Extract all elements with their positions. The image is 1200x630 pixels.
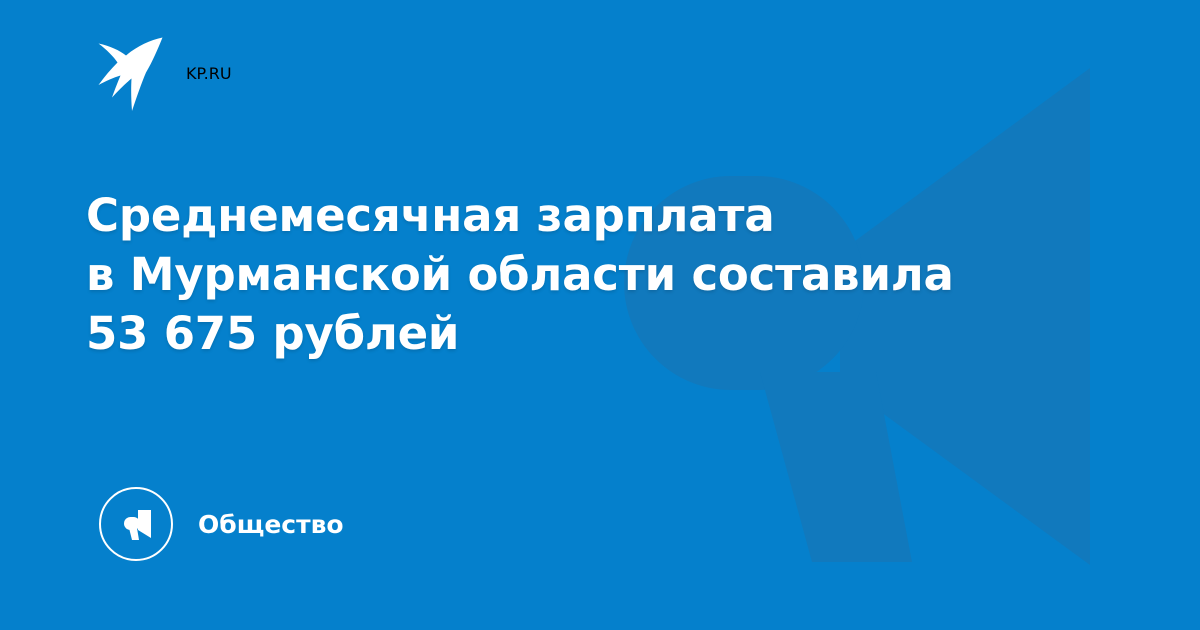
megaphone-icon xyxy=(116,504,156,544)
category-label: Общество xyxy=(198,512,344,537)
swallow-bird-icon xyxy=(88,34,164,112)
page-title: Среднемесячная зарплата в Мурманской обл… xyxy=(86,186,1116,363)
site-logo-text: KP.RU xyxy=(186,64,232,83)
site-logo[interactable]: KP.RU xyxy=(88,34,232,112)
article-share-card: KP.RU Среднемесячная зарплата в Мурманск… xyxy=(0,0,1200,630)
category-icon-circle xyxy=(99,487,173,561)
page-title-line-1: Среднемесячная зарплата xyxy=(86,186,1116,245)
category-badge[interactable]: Общество xyxy=(99,487,344,561)
page-title-line-3: 53 675 рублей xyxy=(86,304,1116,363)
page-title-line-2: в Мурманской области составила xyxy=(86,245,1116,304)
